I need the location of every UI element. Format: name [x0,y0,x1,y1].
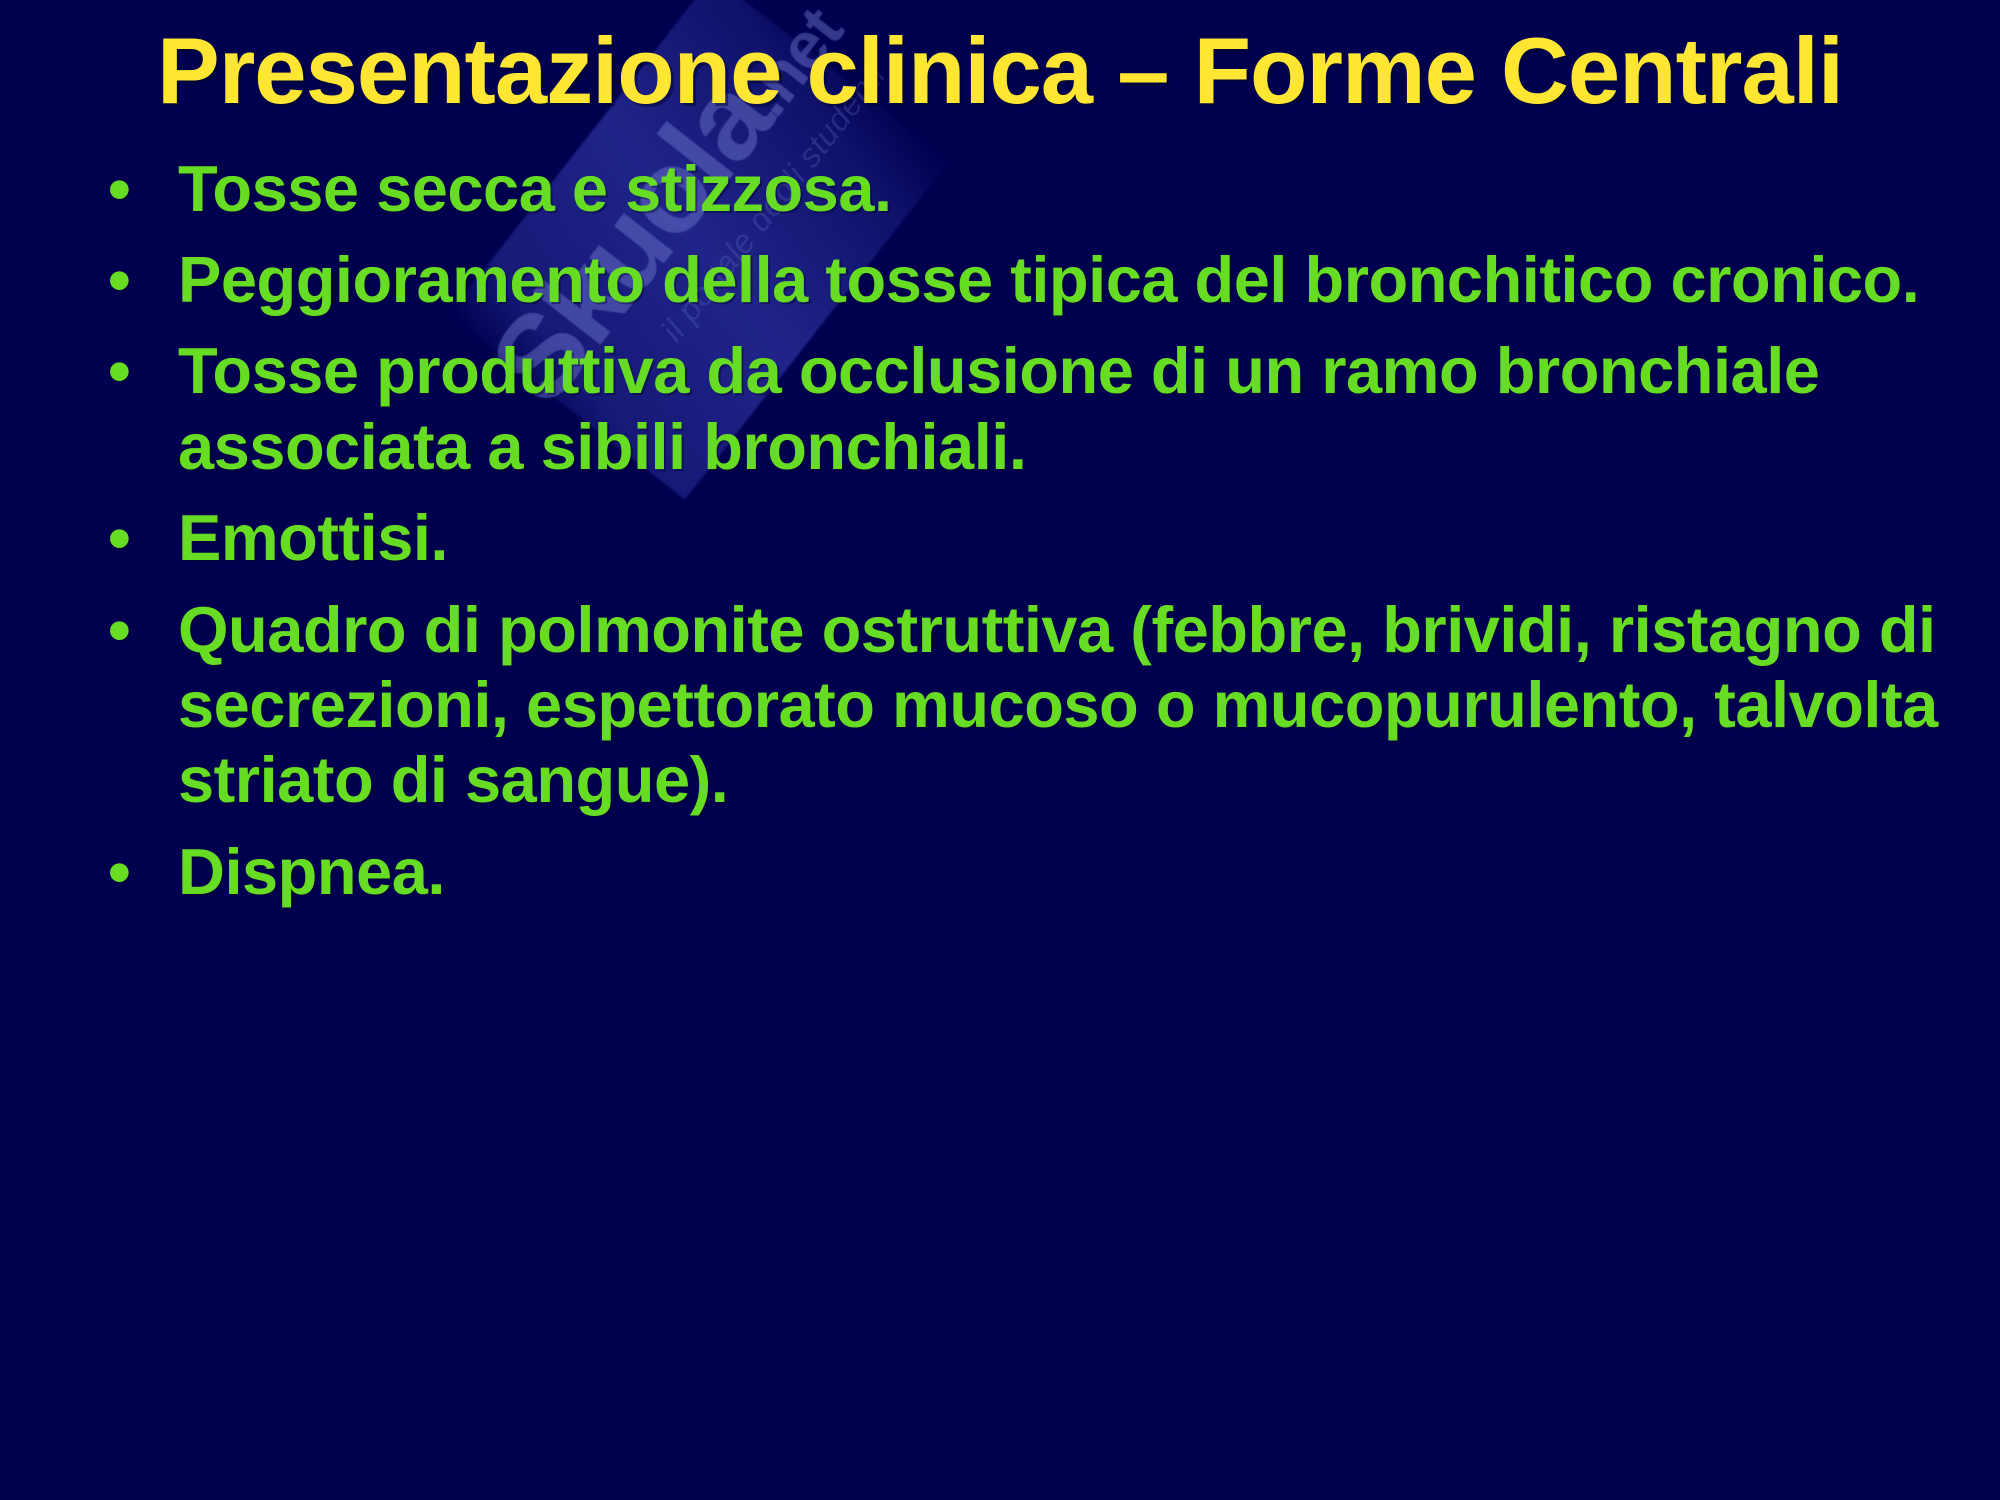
bullet-marker-icon: • [108,151,130,226]
presentation-slide: Skuola.net il portale degli studenti Pre… [0,0,2000,1500]
list-item: • Dispnea. [100,834,1960,909]
bullet-marker-icon: • [108,500,130,575]
list-item-text: Quadro di polmonite ostruttiva (febbre, … [178,592,1960,818]
bullet-list: • Tosse secca e stizzosa. • Peggiorament… [0,151,2000,910]
list-item: • Peggioramento della tosse tipica del b… [100,242,1960,317]
list-item-text: Dispnea. [178,834,1960,909]
bullet-marker-icon: • [108,834,130,909]
list-item: • Emottisi. [100,500,1960,575]
list-item-text: Tosse produttiva da occlusione di un ram… [178,333,1960,484]
list-item-text: Peggioramento della tosse tipica del bro… [178,242,1960,317]
list-item: • Quadro di polmonite ostruttiva (febbre… [100,592,1960,818]
list-item-text: Tosse secca e stizzosa. [178,151,1960,226]
bullet-marker-icon: • [108,592,130,667]
bullet-marker-icon: • [108,242,130,317]
bullet-marker-icon: • [108,333,130,408]
list-item-text: Emottisi. [178,500,1960,575]
list-item: • Tosse secca e stizzosa. [100,151,1960,226]
list-item: • Tosse produttiva da occlusione di un r… [100,333,1960,484]
slide-title: Presentazione clinica – Forme Centrali [0,0,2000,121]
